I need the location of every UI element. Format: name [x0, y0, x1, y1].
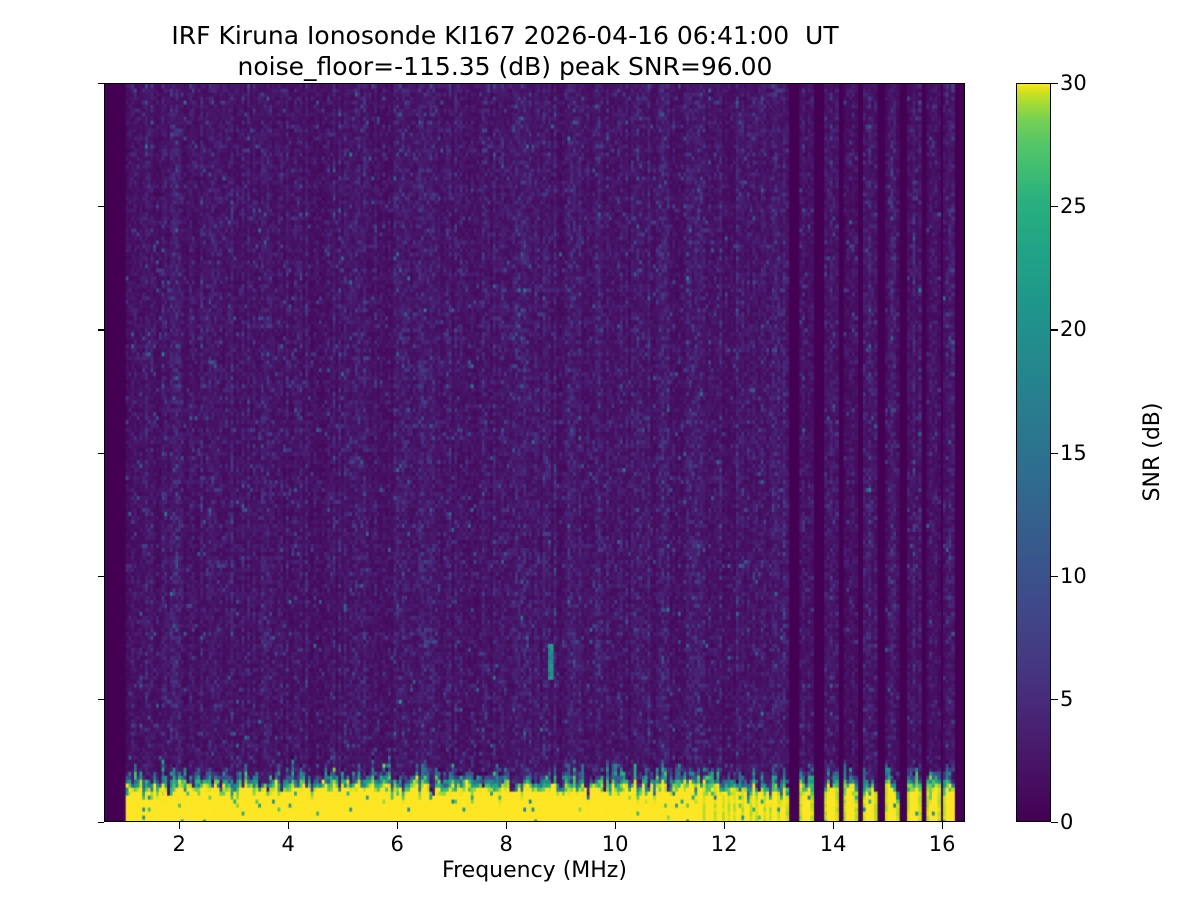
x-tick-mark: [724, 822, 725, 829]
figure-title: IRF Kiruna Ionosonde KI167 2026-04-16 06…: [0, 20, 1010, 82]
colorbar-tick-mark: [1051, 83, 1058, 84]
x-tick-mark: [397, 822, 398, 829]
x-tick-mark: [506, 822, 507, 829]
colorbar-tick-mark: [1051, 699, 1058, 700]
colorbar-tick-label: 25: [1060, 194, 1087, 218]
colorbar-tick-mark: [1051, 329, 1058, 330]
colorbar-label: SNR (dB): [1140, 403, 1165, 502]
ionogram-heatmap: [105, 84, 965, 822]
title-line-2: noise_floor=-115.35 (dB) peak SNR=96.00: [238, 52, 773, 81]
colorbar-tick-mark: [1051, 453, 1058, 454]
colorbar-tick-mark: [1051, 576, 1058, 577]
x-tick-mark: [942, 822, 943, 829]
colorbar-tick-label: 30: [1060, 71, 1087, 95]
x-tick-mark: [615, 822, 616, 829]
colorbar-tick-label: 10: [1060, 564, 1087, 588]
y-tick-mark: [98, 576, 105, 577]
colorbar-tick-label: 20: [1060, 317, 1087, 341]
x-tick-label: 16: [902, 832, 982, 856]
x-tick-mark: [833, 822, 834, 829]
y-tick-mark: [98, 206, 105, 207]
colorbar-tick-label: 0: [1060, 810, 1073, 834]
x-tick-label: 2: [139, 832, 219, 856]
ionogram-plot-area[interactable]: [104, 83, 965, 822]
colorbar-tick-mark: [1051, 206, 1058, 207]
x-axis-label: Frequency (MHz): [104, 858, 965, 883]
snr-colorbar: [1016, 83, 1051, 822]
y-tick-mark: [98, 83, 105, 84]
colorbar-tick-label: 5: [1060, 687, 1073, 711]
x-tick-label: 8: [466, 832, 546, 856]
y-tick-mark: [98, 329, 105, 330]
x-tick-label: 6: [357, 832, 437, 856]
x-tick-label: 10: [575, 832, 655, 856]
x-tick-label: 4: [248, 832, 328, 856]
y-tick-mark: [98, 822, 105, 823]
colorbar-tick-mark: [1051, 822, 1058, 823]
x-tick-label: 14: [793, 832, 873, 856]
colorbar-tick-label: 15: [1060, 441, 1087, 465]
x-tick-label: 12: [684, 832, 764, 856]
x-tick-mark: [179, 822, 180, 829]
y-tick-mark: [98, 699, 105, 700]
y-tick-mark: [98, 453, 105, 454]
ionogram-figure: IRF Kiruna Ionosonde KI167 2026-04-16 06…: [0, 0, 1200, 900]
x-tick-mark: [288, 822, 289, 829]
title-line-1: IRF Kiruna Ionosonde KI167 2026-04-16 06…: [171, 21, 838, 50]
